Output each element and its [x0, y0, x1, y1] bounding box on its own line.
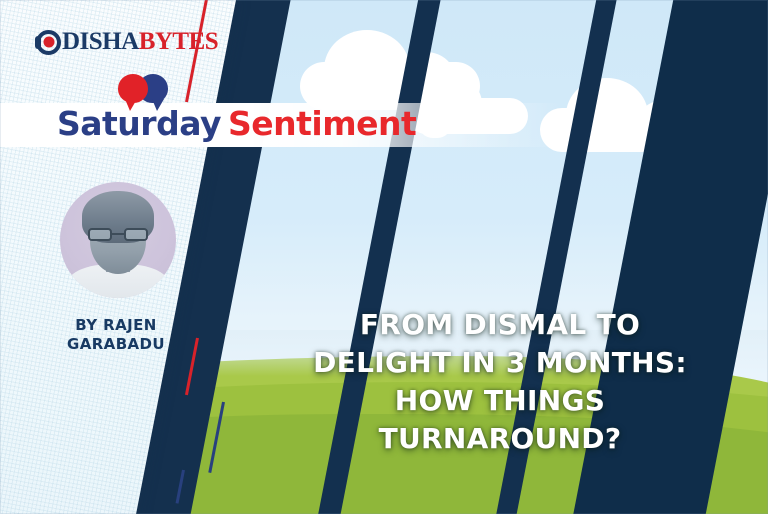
logo-circle-icon	[36, 30, 61, 55]
author-byline: BY RAJEN GARABADU	[36, 316, 196, 354]
headline-line-1: FROM DISMAL TO	[300, 306, 700, 344]
glasses-icon	[88, 228, 148, 241]
headline-line-3: HOW THINGS	[300, 382, 700, 420]
series-title-word-two: Sentiment	[228, 104, 416, 143]
avatar	[60, 182, 176, 298]
series-title-word-one: Saturday	[57, 104, 221, 143]
logo-primary-text: DISHA	[62, 28, 139, 56]
headline-line-2: DELIGHT IN 3 MONTHS:	[300, 344, 700, 382]
page-title: FROM DISMAL TO DELIGHT IN 3 MONTHS: HOW …	[300, 306, 700, 458]
brand-logo[interactable]: DISHA BYTES	[36, 28, 218, 56]
series-title: SaturdaySentiment	[57, 104, 416, 143]
article-thumbnail-card: DISHA BYTES SaturdaySentiment BY RAJEN G…	[0, 0, 768, 514]
logo-secondary-text: BYTES	[139, 28, 218, 56]
speech-bubble-red-icon	[118, 74, 148, 103]
headline-line-4: TURNAROUND?	[300, 420, 700, 458]
